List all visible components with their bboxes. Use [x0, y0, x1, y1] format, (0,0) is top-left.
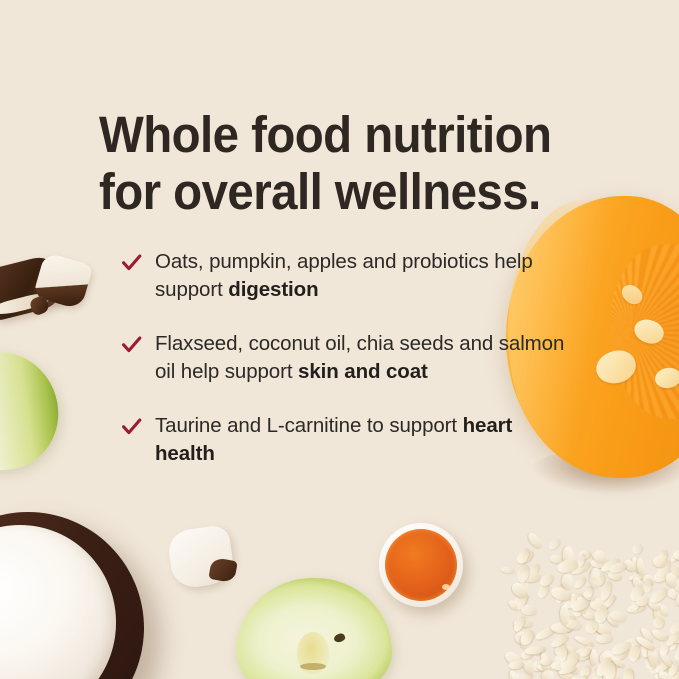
oat-flake — [610, 639, 633, 657]
oat-flake — [557, 644, 567, 662]
oat-flake — [598, 580, 613, 602]
oat-flake — [601, 594, 617, 611]
oat-flake — [644, 655, 656, 670]
oat-flake — [525, 531, 544, 551]
oat-flake — [578, 548, 593, 561]
oat-flake — [569, 559, 592, 577]
apple-flesh — [236, 578, 392, 679]
page-title: Whole food nutrition for overall wellnes… — [99, 106, 583, 220]
oat-flake — [599, 556, 621, 574]
oat-flake — [581, 611, 597, 621]
oat-flake — [520, 635, 529, 649]
oat-flake — [512, 614, 526, 632]
oat-flake — [536, 582, 551, 600]
check-icon — [121, 416, 142, 437]
oat-flake — [565, 655, 582, 677]
oat-flake — [550, 633, 570, 649]
oat-flake — [509, 580, 529, 600]
oat-flake — [640, 644, 660, 664]
oat-flake — [627, 643, 641, 662]
oat-flake — [501, 566, 515, 574]
pumpkin-pulp — [610, 244, 679, 419]
coconut-shell-crumb-image — [28, 294, 50, 316]
oat-flake — [582, 590, 597, 602]
oat-flake — [648, 656, 660, 674]
oat-flake — [591, 548, 609, 565]
oat-flake — [554, 584, 566, 604]
oat-flake — [519, 575, 528, 596]
oat-flake — [578, 663, 591, 678]
oat-flake — [646, 597, 662, 612]
oat-flake — [553, 643, 570, 660]
oat-flake — [608, 646, 629, 662]
oil-highlight — [442, 584, 450, 590]
oat-flake — [558, 649, 582, 672]
oat-flake — [515, 547, 530, 566]
oat-flake — [527, 563, 541, 581]
oat-flake — [663, 665, 679, 679]
list-item: Oats, pumpkin, apples and probiotics hel… — [121, 248, 591, 303]
oat-flake — [539, 651, 551, 673]
list-item: Taurine and L-carnitine to support heart… — [121, 412, 591, 467]
coconut-chunk-image — [166, 524, 235, 590]
oil-bowl-dish — [379, 523, 463, 607]
coconut-shell-shard-image — [33, 252, 94, 310]
oat-flake — [643, 578, 652, 593]
oat-flake — [568, 675, 586, 679]
pumpkin-seed — [653, 366, 679, 389]
oat-flake — [659, 604, 671, 617]
oat-flake — [584, 645, 594, 659]
list-item-text: Taurine and L-carnitine to support heart… — [155, 412, 575, 467]
oat-flake — [503, 650, 526, 670]
oat-flake — [642, 572, 657, 586]
oat-flake — [637, 557, 646, 575]
oat-flake — [628, 572, 646, 582]
oat-flake — [594, 654, 615, 678]
oat-flake — [622, 558, 639, 574]
oat-flake — [660, 636, 671, 657]
oil-surface — [385, 529, 457, 601]
oat-flake — [622, 635, 646, 651]
oat-flake — [603, 662, 615, 679]
benefits-list: Oats, pumpkin, apples and probiotics hel… — [121, 248, 591, 467]
list-item-text: Oats, pumpkin, apples and probiotics hel… — [155, 248, 575, 303]
oat-flake — [585, 586, 593, 597]
oat-flake — [536, 664, 551, 672]
oat-flake — [555, 662, 575, 679]
oat-flake — [673, 642, 679, 662]
oat-flake — [562, 594, 585, 611]
oat-flake — [599, 650, 615, 669]
pumpkin-seed — [618, 281, 646, 308]
apple-shadow — [333, 588, 420, 678]
oat-flake — [667, 619, 679, 638]
oat-flake — [667, 632, 679, 651]
oat-flake — [631, 576, 643, 590]
oat-flake — [609, 609, 628, 623]
oat-flake — [558, 652, 580, 673]
coconut-husk — [0, 512, 144, 679]
apple-seed-line — [300, 663, 326, 670]
oat-flake — [570, 595, 592, 614]
oat-flake — [558, 665, 577, 676]
oat-flake — [666, 588, 679, 601]
oat-flake — [635, 635, 657, 652]
list-item-text-plain: Taurine and L-carnitine to support — [155, 414, 463, 437]
coconut-shadow — [5, 554, 205, 679]
oat-flake — [575, 595, 589, 615]
oat-flake — [675, 593, 679, 609]
oat-flake — [573, 588, 593, 611]
oat-flake — [573, 575, 588, 590]
oat-flake — [669, 545, 679, 564]
oat-flake — [520, 649, 534, 660]
oat-flake — [509, 660, 525, 670]
oat-flake — [647, 645, 659, 668]
oat-flake — [655, 558, 672, 579]
oat-flake — [648, 585, 670, 606]
oat-flake — [563, 618, 583, 631]
oat-flake — [593, 604, 609, 625]
oat-flake — [518, 655, 536, 677]
oat-flake — [574, 634, 596, 648]
oat-flake — [664, 565, 679, 584]
oat-flake — [559, 605, 569, 627]
oat-flake — [610, 655, 627, 669]
list-item-emphasis: digestion — [228, 278, 318, 301]
oat-flake — [602, 560, 618, 575]
oat-flake — [592, 621, 608, 637]
oat-flake — [507, 599, 521, 612]
oat-flake — [516, 617, 533, 629]
oat-flake — [550, 555, 564, 564]
oat-flake — [592, 667, 602, 679]
apple-core — [297, 632, 329, 674]
oat-flake — [561, 573, 576, 591]
oat-flake — [517, 670, 535, 679]
coconut-shell-shard-image — [0, 254, 63, 322]
oat-flake — [580, 646, 593, 659]
pumpkin-seed — [631, 315, 667, 348]
oat-flake — [590, 549, 613, 568]
list-item-emphasis: skin and coat — [298, 360, 428, 383]
oat-flake — [591, 567, 600, 580]
oat-flake — [558, 649, 572, 671]
oat-flake — [534, 625, 557, 643]
oat-flake — [603, 669, 623, 679]
oat-flake — [668, 659, 679, 676]
oat-flake — [538, 571, 556, 588]
oat-flake — [673, 550, 679, 561]
oat-flake — [573, 645, 594, 662]
oat-flake — [653, 659, 673, 676]
oat-flake — [584, 619, 600, 635]
list-item-text: Flaxseed, coconut oil, chia seeds and sa… — [155, 330, 575, 385]
oat-flake — [559, 646, 579, 656]
oat-flake — [577, 553, 586, 567]
oat-flake — [674, 580, 679, 591]
oat-flake — [623, 669, 634, 679]
oat-flake — [541, 670, 553, 679]
oat-flake — [673, 590, 679, 609]
oat-flake — [552, 645, 573, 665]
oat-flake — [663, 570, 675, 585]
oat-flake — [551, 623, 572, 634]
oat-flake — [519, 571, 541, 583]
oat-flake — [513, 630, 531, 647]
rolled-oats-image — [495, 523, 679, 679]
pumpkin-seed — [593, 347, 640, 388]
oat-flake — [630, 597, 640, 611]
oat-flake — [608, 560, 628, 575]
oat-flake — [596, 633, 614, 644]
oat-flake — [653, 663, 671, 679]
oat-flake — [669, 634, 679, 642]
oat-flake — [651, 615, 667, 631]
list-item-text-plain: Oats, pumpkin, apples and probiotics hel… — [155, 250, 533, 301]
oat-flake — [590, 649, 598, 666]
oat-flake — [639, 627, 656, 646]
oat-flake — [567, 591, 590, 612]
oat-flake — [532, 645, 545, 657]
oat-flake — [640, 643, 653, 658]
oat-flake — [650, 628, 668, 643]
check-icon — [121, 252, 142, 273]
oat-flake — [628, 581, 647, 603]
coconut-half-image — [0, 512, 144, 679]
oat-flake — [589, 595, 611, 611]
oat-flake — [630, 555, 644, 575]
oat-flake — [588, 570, 602, 590]
oat-flake — [555, 613, 578, 633]
oat-flake — [652, 566, 674, 584]
oat-flake — [516, 593, 530, 611]
oat-flake — [652, 602, 665, 624]
oat-flake — [551, 660, 571, 671]
oat-flake — [657, 650, 673, 669]
check-icon — [121, 334, 142, 355]
oat-flake — [570, 597, 589, 619]
oat-flake — [608, 571, 623, 581]
green-apple-slice-image — [0, 346, 64, 475]
oat-flake — [555, 557, 578, 574]
oat-flake — [515, 546, 536, 565]
oat-flake — [657, 549, 668, 563]
oat-flake — [626, 642, 645, 662]
oat-flake — [518, 627, 536, 646]
oat-flake — [674, 649, 679, 668]
oat-flake — [635, 594, 650, 607]
product-benefits-poster: Whole food nutrition for overall wellnes… — [0, 0, 679, 679]
oat-flake — [550, 585, 574, 602]
oat-flake — [590, 571, 607, 589]
oat-flake — [607, 563, 619, 570]
oat-flake — [517, 616, 530, 631]
oat-flake — [652, 555, 666, 568]
oat-flake — [561, 614, 571, 627]
oat-flake — [562, 546, 574, 567]
oat-flake — [664, 630, 679, 648]
oat-flake — [530, 659, 545, 672]
oat-flake — [508, 670, 521, 679]
oat-flake — [594, 553, 613, 572]
coconut-meat — [0, 525, 116, 679]
oat-flake — [592, 621, 613, 638]
oat-flake — [591, 558, 609, 568]
oat-flake — [524, 645, 546, 656]
oat-flake — [510, 671, 531, 679]
oat-flake — [656, 668, 677, 679]
oat-flake — [630, 542, 644, 557]
oat-flake — [520, 604, 537, 615]
oat-flake — [564, 618, 580, 634]
oat-flake — [599, 647, 623, 670]
oat-flake — [540, 657, 552, 665]
green-apple-half-image — [236, 578, 392, 679]
oat-flake — [604, 612, 620, 628]
oat-flake — [517, 564, 531, 584]
list-item: Flaxseed, coconut oil, chia seeds and sa… — [121, 330, 591, 385]
oat-flake — [590, 598, 609, 612]
oat-flake — [568, 592, 585, 612]
oat-flake — [574, 673, 588, 679]
oat-flake — [511, 591, 531, 610]
oat-flake — [511, 618, 529, 640]
oat-flake — [627, 602, 648, 614]
salmon-oil-bowl-image — [379, 523, 463, 607]
apple-seed — [333, 632, 346, 644]
oat-flake — [663, 571, 679, 589]
oat-flake — [547, 536, 562, 551]
